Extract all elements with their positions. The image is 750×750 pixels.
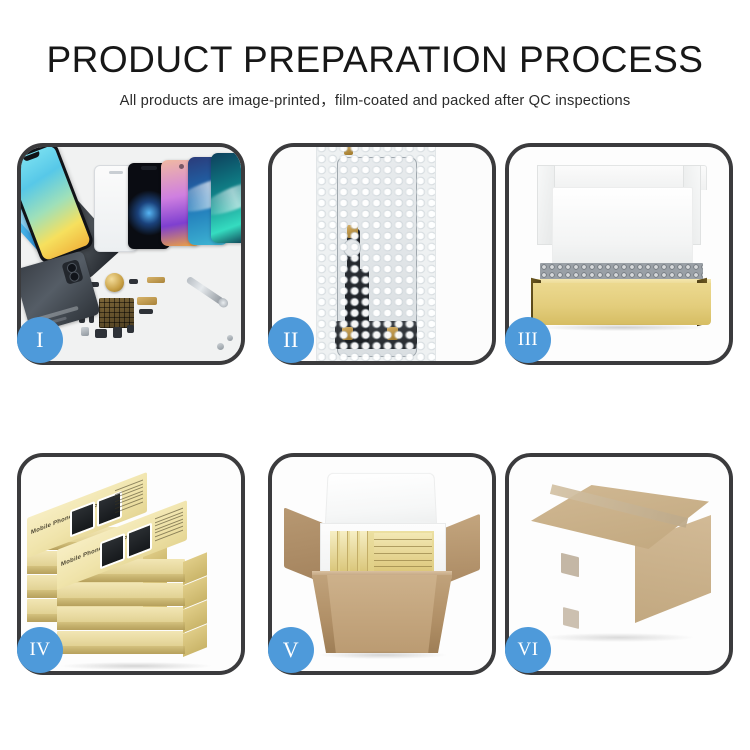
yellow-box-base-icon bbox=[533, 283, 711, 325]
drop-shadow bbox=[61, 662, 211, 670]
inner-box-slab bbox=[57, 583, 185, 606]
step-panel-2: II bbox=[268, 143, 496, 365]
step-panel-1: I bbox=[17, 143, 245, 365]
connector-part-icon bbox=[139, 309, 153, 314]
page-header: PRODUCT PREPARATION PROCESS All products… bbox=[0, 0, 750, 130]
drop-shadow bbox=[543, 633, 693, 642]
box-edge bbox=[57, 598, 185, 606]
battery-connector-part-icon bbox=[113, 327, 122, 338]
packed-inner-boxes-icon bbox=[330, 531, 434, 573]
sim-tray-part-icon bbox=[81, 327, 89, 336]
white-foam-sheet-icon bbox=[552, 187, 693, 269]
page-title: PRODUCT PREPARATION PROCESS bbox=[0, 0, 750, 80]
screw-tray-part-icon bbox=[99, 298, 134, 328]
inner-box-edge bbox=[360, 531, 368, 573]
phone-teal-wave-icon bbox=[211, 153, 241, 243]
step-panel-4: Mobile Phone Spare Parts Mobile Phone Sp… bbox=[17, 453, 245, 675]
step-badge-4: IV bbox=[17, 627, 63, 673]
drop-shadow bbox=[539, 324, 705, 331]
flex-cable-part-icon bbox=[147, 277, 165, 283]
vibration-motor-part-icon bbox=[105, 273, 124, 292]
step-badge-5: V bbox=[268, 627, 314, 673]
inner-box-edge bbox=[330, 531, 338, 573]
bubble-texture-overlay-icon bbox=[316, 147, 434, 361]
step-panel-3: III bbox=[505, 143, 733, 365]
lid-spec-lines-icon bbox=[155, 508, 183, 547]
inner-box-stack-right: Mobile Phone Spare Parts bbox=[57, 519, 209, 669]
step-badge-1: I bbox=[17, 317, 63, 363]
screw-part-icon bbox=[217, 343, 224, 350]
lid-spec-lines-icon bbox=[115, 480, 143, 519]
inner-box-stack-top bbox=[374, 533, 432, 571]
inner-box-slab bbox=[57, 607, 185, 630]
step-panel-6: VI bbox=[505, 453, 733, 675]
small-chip-part-icon bbox=[129, 279, 138, 284]
carton-front-face-icon bbox=[327, 575, 437, 653]
box-edge bbox=[57, 646, 185, 654]
step-badge-2: II bbox=[268, 317, 314, 363]
camera-cutout-icon bbox=[61, 259, 83, 285]
inner-box-slab bbox=[57, 631, 185, 654]
screw-part-icon bbox=[227, 335, 233, 341]
carton-flap-tab-icon bbox=[563, 607, 579, 629]
lid-window-icon bbox=[100, 533, 125, 570]
step-panel-5: V bbox=[268, 453, 496, 675]
connector-part-icon bbox=[137, 297, 157, 305]
phone-notch-icon bbox=[141, 166, 157, 170]
drop-shadow bbox=[320, 651, 446, 659]
carton-flap-tab-icon bbox=[561, 553, 579, 577]
button-part-icon bbox=[127, 325, 134, 333]
lid-window-icon bbox=[127, 522, 152, 559]
inner-box-edge bbox=[350, 531, 358, 573]
inner-box-edge bbox=[340, 531, 348, 573]
box-edge bbox=[57, 622, 185, 630]
step-badge-3: III bbox=[505, 317, 551, 363]
camera-module-part-icon bbox=[95, 329, 107, 338]
wave-highlight-icon bbox=[211, 174, 241, 221]
process-steps-grid: I II bbox=[17, 143, 733, 675]
page-subtitle: All products are image-printed，film-coat… bbox=[0, 80, 750, 110]
step-badge-6: VI bbox=[505, 627, 551, 673]
